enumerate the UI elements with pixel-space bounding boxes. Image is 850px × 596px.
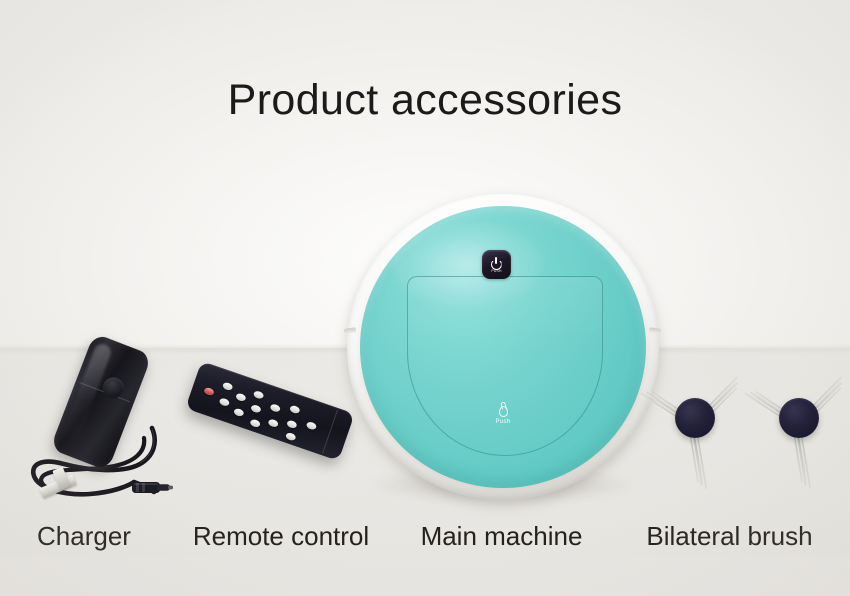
bilateral-brush-product [640, 362, 850, 492]
robot-power-button: PUSH [482, 250, 511, 279]
remote-body [185, 361, 354, 461]
remote-button [250, 404, 262, 414]
remote-power-button [203, 387, 215, 397]
hand-push-icon [497, 402, 510, 418]
caption-bilateral-brush: Bilateral brush [609, 521, 850, 552]
side-brush [746, 362, 850, 490]
power-icon [490, 257, 503, 270]
remote-button [306, 421, 318, 431]
main-machine-product: PUSH Push [341, 192, 665, 510]
robot-top-cover: PUSH Push [360, 206, 646, 488]
brush-hub [675, 398, 715, 438]
dustbin-lid-outline [407, 276, 603, 456]
caption-main-machine: Main machine [394, 521, 609, 552]
remote-button [253, 390, 265, 400]
brush-hub [779, 398, 819, 438]
caption-remote-control: Remote control [168, 521, 394, 552]
charger-product [18, 336, 188, 508]
remote-control-product [183, 372, 363, 498]
brush-arm [690, 435, 707, 490]
remote-button [249, 418, 261, 428]
push-marking: Push [486, 402, 520, 425]
side-brush [642, 362, 748, 490]
power-button-label: PUSH [491, 270, 501, 273]
remote-button [285, 432, 297, 442]
page-title: Product accessories [0, 76, 850, 125]
remote-button [235, 392, 247, 402]
remote-button [219, 397, 231, 407]
remote-button [269, 403, 281, 413]
remote-button [267, 418, 279, 428]
remote-button [286, 419, 298, 429]
push-marking-label: Push [496, 419, 511, 425]
remote-button [289, 405, 301, 415]
remote-button [233, 407, 245, 417]
brush-arm [794, 435, 811, 490]
bottom-band [0, 556, 850, 596]
dc-barrel-connector [132, 482, 173, 493]
product-accessories-image: Product accessories [0, 0, 850, 596]
caption-charger: Charger [0, 521, 168, 552]
remote-button [222, 381, 234, 391]
